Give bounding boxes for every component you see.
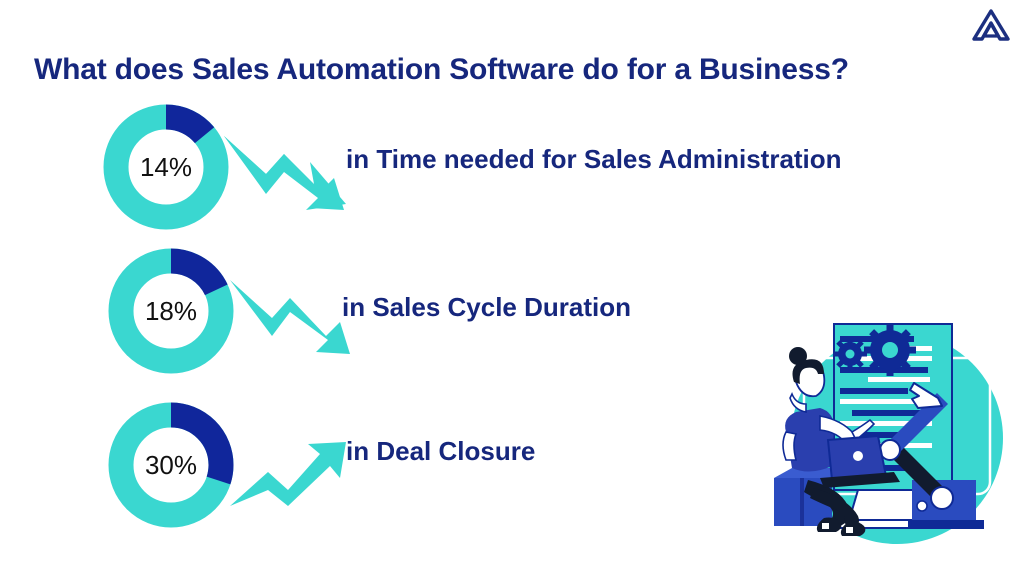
donut-chart-14: 14% [103, 104, 229, 230]
stat-caption: in Deal Closure [346, 436, 535, 467]
donut-percent-label: 14% [103, 104, 229, 230]
mountain-m-logo [968, 8, 1014, 42]
donut-chart-18: 18% [108, 248, 234, 374]
page-title: What does Sales Automation Software do f… [34, 53, 994, 87]
donut-percent-label: 30% [108, 402, 234, 528]
arrow-trend-up-icon [228, 420, 358, 520]
arrow-trend-down-icon [228, 262, 358, 362]
stat-caption: in Time needed for Sales Administration [346, 144, 842, 175]
arrow-trend-down-icon [222, 118, 352, 218]
infographic-canvas: What does Sales Automation Software do f… [0, 0, 1024, 576]
stat-caption: in Sales Cycle Duration [342, 292, 631, 323]
stat-row: 14% in Time needed for Sales Administrat… [0, 96, 1024, 246]
donut-percent-label: 18% [108, 248, 234, 374]
donut-chart-30: 30% [108, 402, 234, 528]
sales-automation-illustration [762, 320, 1024, 560]
